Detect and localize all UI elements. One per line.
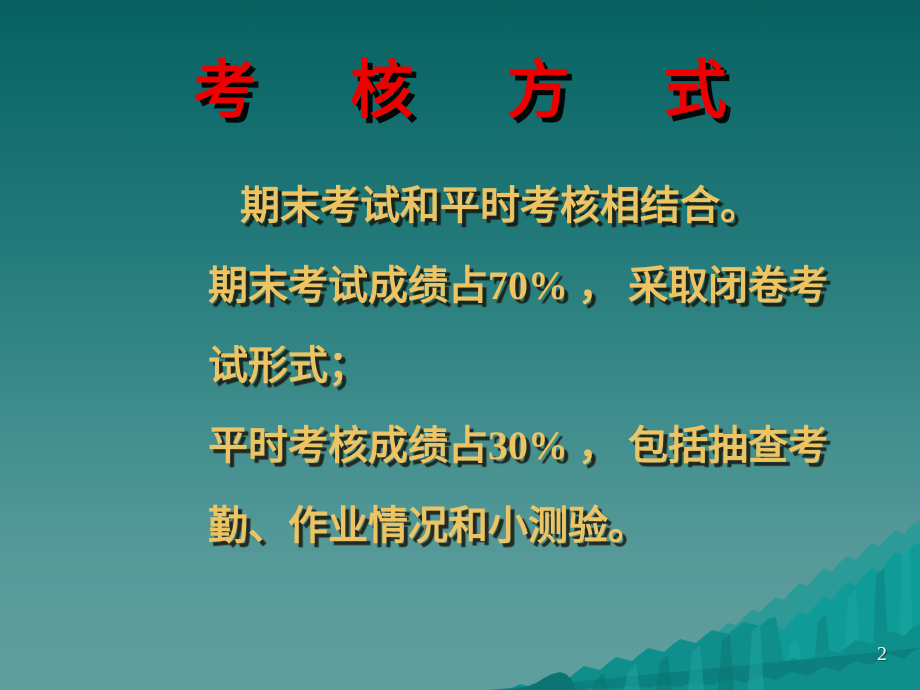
slide-title: 考 核 方 式 [0, 60, 920, 123]
slide-body: 期末考试和平时考核相结合。 期末考试成绩占70% ， 采取闭卷考 试形式； 平时… [208, 166, 908, 566]
body-line-2: 期末考试成绩占70% ， 采取闭卷考 [208, 246, 908, 326]
presentation-slide: 考 核 方 式 期末考试和平时考核相结合。 期末考试成绩占70% ， 采取闭卷考… [0, 0, 920, 690]
body-line-4: 平时考核成绩占30% ， 包括抽查考 [208, 406, 908, 486]
page-number: 2 [877, 643, 887, 666]
ridge-striping-center [560, 625, 764, 690]
body-line-5: 勤、作业情况和小测验。 [208, 486, 908, 566]
body-line-3: 试形式； [208, 326, 908, 406]
ridge-layer-mid [506, 617, 920, 690]
ridge-striping-right [784, 548, 914, 690]
body-line-1: 期末考试和平时考核相结合。 [208, 166, 908, 246]
ridge-layer-foreground-nub [512, 672, 575, 690]
ridge-layer-front [490, 648, 920, 690]
